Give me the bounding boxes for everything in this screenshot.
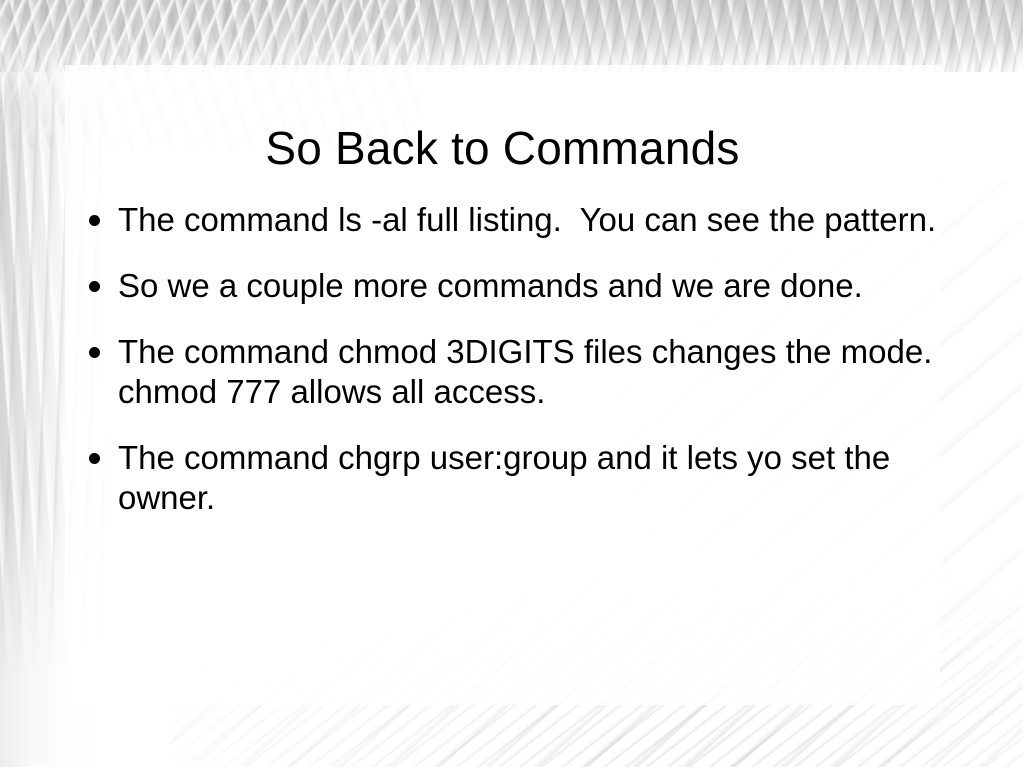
bullet-dot-icon [89, 347, 100, 358]
slide-body: So Back to Commands The command ls -al f… [0, 0, 1023, 767]
slide-title: So Back to Commands [65, 123, 940, 174]
bullet-dot-icon [89, 215, 100, 226]
list-item: So we a couple more commands and we are … [86, 266, 948, 306]
presentation-slide: So Back to Commands The command ls -al f… [0, 0, 1023, 767]
bullet-dot-icon [89, 281, 100, 292]
bullet-list: The command ls -al full listing. You can… [86, 200, 948, 544]
list-item-text: So we a couple more commands and we are … [118, 266, 948, 306]
list-item: The command chgrp user:group and it lets… [86, 438, 948, 518]
list-item-text: The command chgrp user:group and it lets… [118, 438, 948, 518]
list-item: The command ls -al full listing. You can… [86, 200, 948, 240]
list-item-text: The command ls -al full listing. You can… [118, 200, 948, 240]
bullet-dot-icon [89, 453, 100, 464]
list-item-text: The command chmod 3DIGITS files changes … [118, 332, 948, 412]
list-item: The command chmod 3DIGITS files changes … [86, 332, 948, 412]
